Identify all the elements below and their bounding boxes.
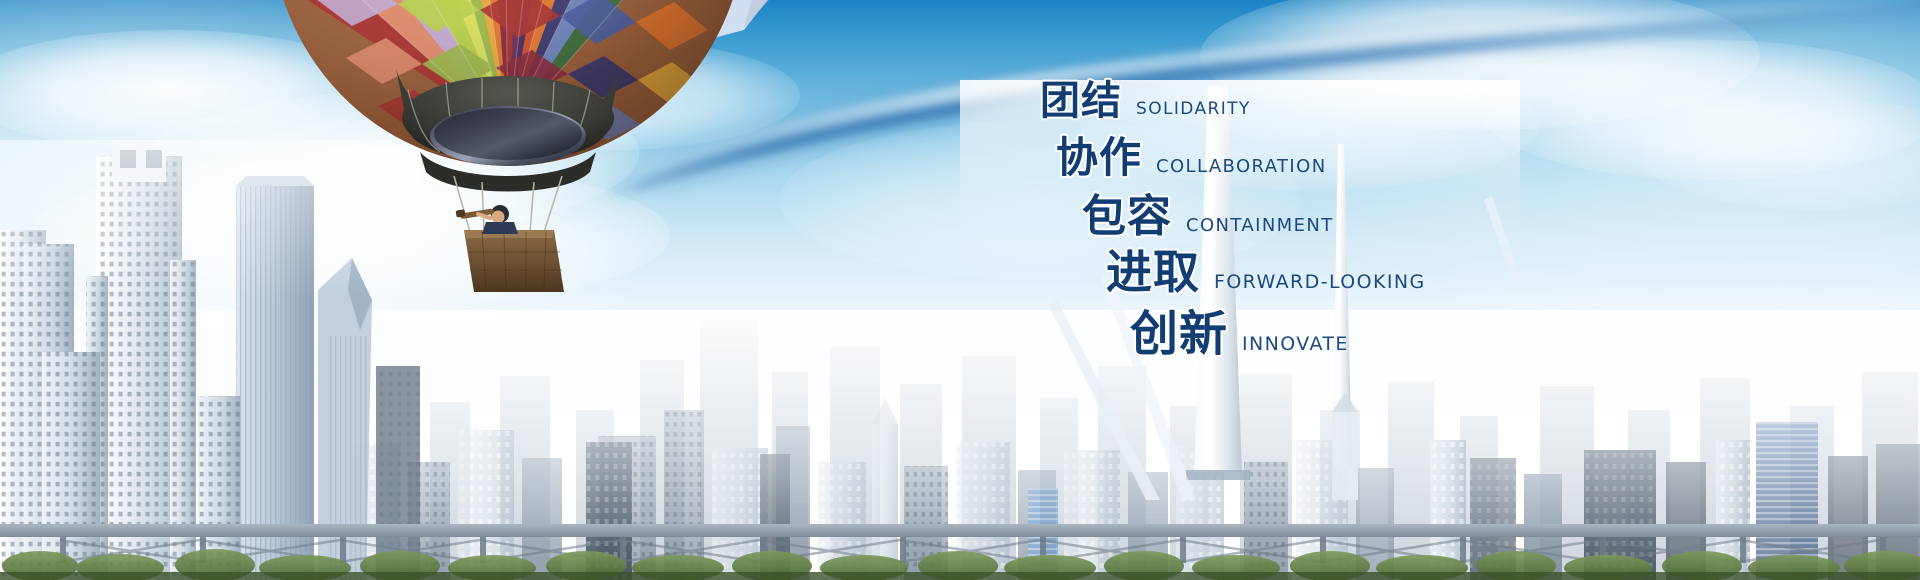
value-cn-containment: 包容: [1082, 180, 1172, 244]
value-cn-innovate: 创新: [1130, 294, 1228, 364]
value-row-forward-looking: 进取 FORWARD-LOOKING: [1106, 236, 1426, 302]
value-en-innovate: INNOVATE: [1242, 333, 1349, 355]
sky-haze-left: [0, 0, 760, 420]
value-row-solidarity: 团结 SOLIDARITY: [1040, 68, 1251, 126]
values-list: 团结 SOLIDARITY 协作 COLLABORATION 包容 CONTAI…: [1040, 62, 1600, 382]
value-en-collaboration: COLLABORATION: [1156, 156, 1327, 177]
value-row-containment: 包容 CONTAINMENT: [1082, 180, 1334, 244]
value-cn-solidarity: 团结: [1040, 68, 1122, 126]
values-banner: 团结 SOLIDARITY 协作 COLLABORATION 包容 CONTAI…: [0, 0, 1920, 580]
value-en-solidarity: SOLIDARITY: [1136, 99, 1251, 119]
value-row-innovate: 创新 INNOVATE: [1130, 294, 1349, 364]
value-en-containment: CONTAINMENT: [1186, 215, 1334, 236]
value-en-forward-looking: FORWARD-LOOKING: [1214, 271, 1426, 293]
value-row-collaboration: 协作 COLLABORATION: [1056, 124, 1327, 185]
value-cn-forward-looking: 进取: [1106, 236, 1200, 302]
value-cn-collaboration: 协作: [1056, 124, 1142, 185]
